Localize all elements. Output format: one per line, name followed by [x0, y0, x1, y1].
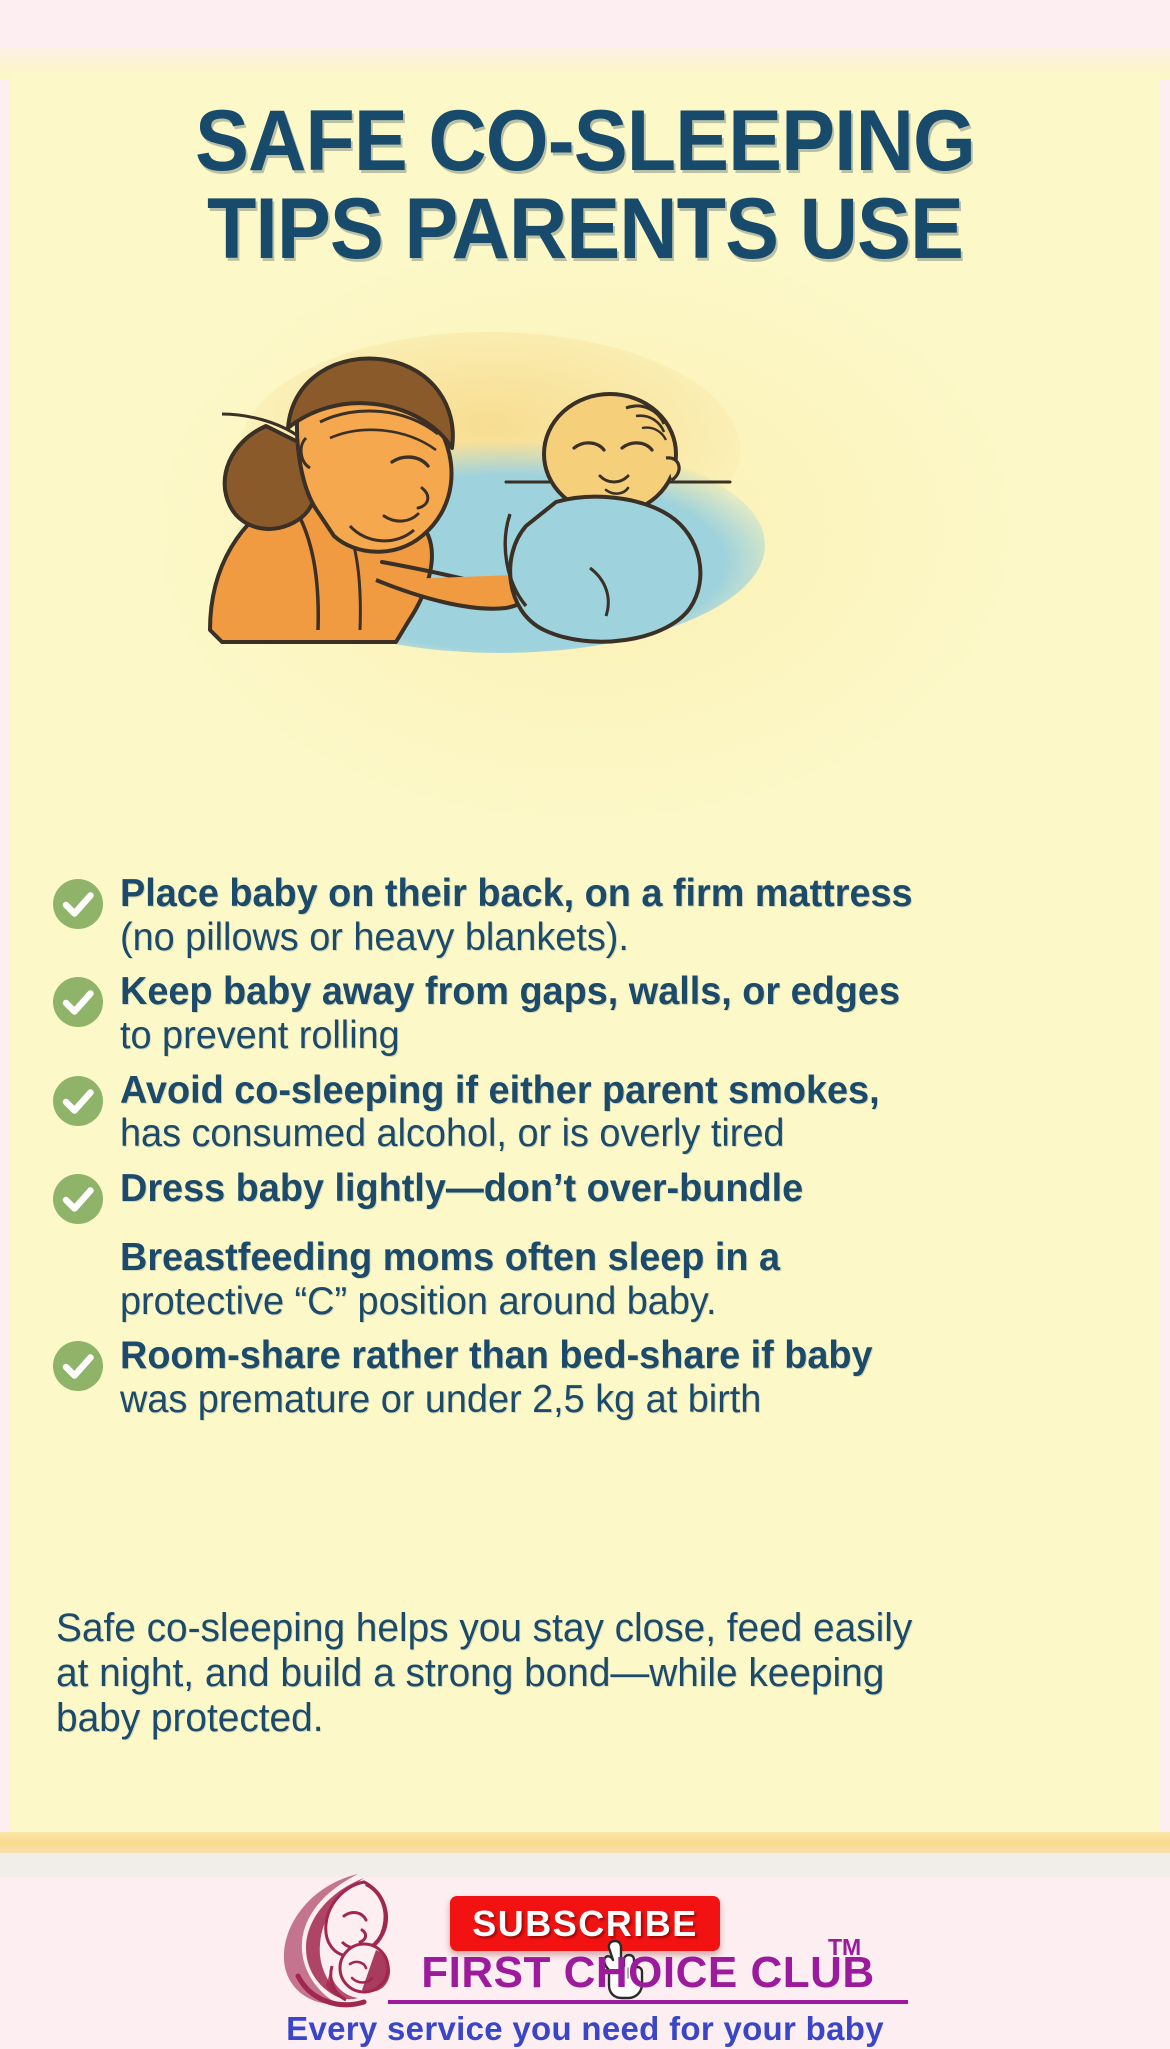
bottom-gold-band	[0, 1832, 1170, 1853]
check-circle-icon	[52, 1173, 104, 1225]
page-title: SAFE CO-SLEEPING TIPS PARENTS USE	[0, 98, 1170, 273]
tip-line-2: protective “C” position around baby.	[120, 1280, 1092, 1324]
tip-line-1: Room-share rather than bed-share if baby	[120, 1334, 1092, 1378]
infographic-poster: SAFE CO-SLEEPING TIPS PARENTS USE	[0, 0, 1170, 2049]
tip-line-1: Avoid co-sleeping if either parent smoke…	[120, 1069, 1092, 1113]
closing-line-1: Safe co-sleeping helps you stay close, f…	[56, 1606, 1094, 1651]
brand-tagline: Every service you need for your baby	[0, 2010, 1170, 2048]
bottom-grey-band	[0, 1853, 1170, 1877]
top-pink-band	[0, 0, 1170, 48]
closing-paragraph: Safe co-sleeping helps you stay close, f…	[56, 1606, 1094, 1742]
check-circle-icon	[52, 976, 104, 1028]
tip-line-1: Keep baby away from gaps, walls, or edge…	[120, 970, 1092, 1014]
tip-item: Room-share rather than bed-share if baby…	[52, 1334, 1122, 1421]
tip-line-2: has consumed alcohol, or is overly tired	[120, 1112, 1092, 1156]
tip-item: Place baby on their back, on a firm matt…	[52, 872, 1122, 959]
tip-line-2: to prevent rolling	[120, 1014, 1092, 1058]
tip-line-1: Dress baby lightly—don’t over-bundle	[120, 1167, 1092, 1211]
tip-text: Room-share rather than bed-share if baby…	[120, 1334, 1092, 1421]
tip-text: Place baby on their back, on a firm matt…	[120, 872, 1092, 959]
tip-text: Breastfeeding moms often sleep in a prot…	[120, 1236, 1092, 1323]
trademark-mark: TM	[828, 1934, 861, 1961]
subscribe-button-label: SUBSCRIBE	[472, 1903, 698, 1945]
mother-and-baby-logo-icon	[272, 1868, 404, 2008]
subscribe-button[interactable]: SUBSCRIBE	[450, 1896, 720, 1951]
tips-list: Place baby on their back, on a firm matt…	[52, 872, 1122, 1433]
title-line-1: SAFE CO-SLEEPING	[35, 98, 1135, 186]
tip-text: Keep baby away from gaps, walls, or edge…	[120, 970, 1092, 1057]
tip-text: Avoid co-sleeping if either parent smoke…	[120, 1069, 1092, 1156]
mother-and-baby-cosleeping-illustration	[170, 330, 790, 660]
check-circle-icon	[52, 878, 104, 930]
closing-line-2: at night, and build a strong bond—while …	[56, 1651, 1094, 1696]
tip-line-2: was premature or under 2,5 kg at birth	[120, 1378, 1092, 1422]
check-circle-icon	[52, 1075, 104, 1127]
tip-line-1: Breastfeeding moms often sleep in a	[120, 1236, 1092, 1280]
closing-line-3: baby protected.	[56, 1696, 1094, 1741]
title-line-2: TIPS PARENTS USE	[35, 186, 1135, 274]
tip-text: Dress baby lightly—don’t over-bundle	[120, 1167, 1092, 1211]
tip-line-1: Place baby on their back, on a firm matt…	[120, 872, 1092, 916]
tip-line-2: (no pillows or heavy blankets).	[120, 916, 1092, 960]
tip-item: Breastfeeding moms often sleep in a prot…	[52, 1236, 1122, 1323]
tip-item: Keep baby away from gaps, walls, or edge…	[52, 970, 1122, 1057]
check-circle-icon	[52, 1340, 104, 1392]
tip-item: Dress baby lightly—don’t over-bundle	[52, 1167, 1122, 1225]
tip-item: Avoid co-sleeping if either parent smoke…	[52, 1069, 1122, 1156]
